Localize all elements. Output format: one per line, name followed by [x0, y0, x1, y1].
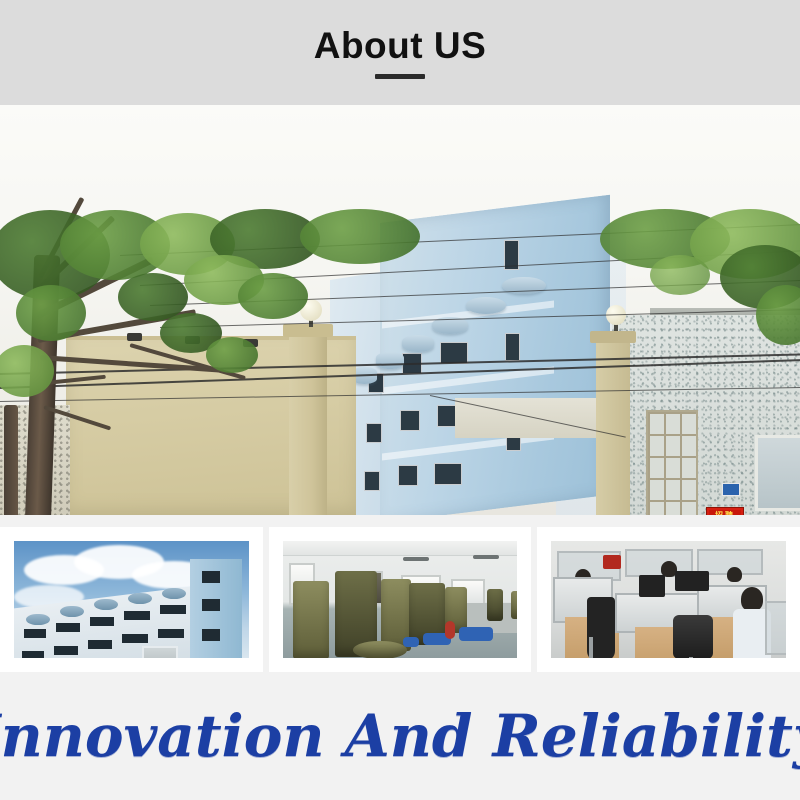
factory-window: [56, 623, 80, 632]
factory-window: [202, 629, 220, 641]
computer-monitor: [603, 555, 621, 569]
page-header: About US: [0, 0, 800, 105]
gate-pillar-cap: [590, 331, 636, 343]
thumbnail-factory-building[interactable]: [0, 527, 263, 672]
tree-trunk: [4, 405, 18, 515]
thumbnail-image: [551, 541, 786, 658]
tree-foliage: [16, 285, 86, 341]
factory-window: [54, 646, 78, 655]
computer-monitor: [639, 575, 665, 597]
factory-window: [160, 605, 186, 614]
hero-image: 招聘: [0, 105, 800, 515]
office-worker: [741, 587, 763, 611]
roof-vent: [60, 606, 84, 617]
office-chair: [673, 615, 713, 658]
building-balcony: [376, 352, 404, 369]
factory-window: [88, 640, 112, 649]
ceiling-fan-icon: [403, 557, 429, 561]
stamping-machine: [511, 591, 518, 619]
roof-vent: [128, 593, 152, 604]
building-balcony: [402, 335, 434, 352]
guard-house-gate: [646, 410, 698, 515]
factory-entrance: [142, 646, 178, 658]
building-window: [505, 333, 520, 361]
title-underline: [375, 74, 425, 79]
thumbnail-image: [283, 541, 518, 658]
workshop-ceiling: [283, 541, 518, 556]
thumbnail-production-workshop[interactable]: [269, 527, 532, 672]
factory-window: [90, 617, 114, 626]
building-balcony: [466, 297, 506, 314]
building-window: [364, 471, 380, 491]
building-window: [434, 463, 462, 485]
factory-window: [22, 651, 44, 658]
recruitment-sign: 招聘: [706, 507, 744, 515]
gate-pillar: [289, 330, 327, 515]
stamping-machine: [487, 589, 503, 621]
machine-base: [353, 641, 407, 658]
roof-vent: [26, 614, 50, 625]
storage-bin: [459, 627, 493, 641]
gate-pillar-cap: [283, 324, 333, 337]
tagline-text: Innovation And Reliability: [0, 702, 800, 770]
thumbnail-gallery: [0, 527, 800, 672]
tagline-section: Innovation And Reliability: [0, 672, 800, 800]
ceiling-fan-icon: [473, 555, 499, 559]
address-plate: [722, 483, 740, 496]
guard-house-window: [755, 435, 800, 511]
tree-foliage: [300, 209, 420, 264]
factory-window: [124, 611, 150, 620]
thumbnail-image: [14, 541, 249, 658]
storage-bin: [403, 637, 419, 647]
stamping-machine: [293, 581, 329, 658]
computer-monitor: [675, 571, 709, 591]
roof-vent: [162, 588, 186, 599]
about-us-page: About US: [0, 0, 800, 800]
page-title: About US: [314, 27, 487, 64]
tree-foliage: [650, 255, 710, 295]
gas-cylinder: [445, 621, 455, 639]
factory-window: [122, 634, 148, 643]
factory-window: [202, 599, 220, 611]
factory-window: [202, 571, 220, 583]
tree-foliage: [238, 273, 308, 319]
chair-frame: [589, 637, 593, 658]
recruitment-sign-title: 招聘: [709, 510, 741, 515]
thumbnail-office-area[interactable]: [537, 527, 800, 672]
tree-foliage: [206, 337, 258, 373]
wall-light-icon: [127, 333, 142, 341]
factory-window: [24, 629, 46, 638]
building-window: [398, 465, 418, 486]
chair-frame: [689, 657, 693, 658]
building-window: [366, 423, 382, 443]
cubicle-glass-panel: [765, 601, 786, 655]
building-window: [400, 410, 420, 431]
office-worker: [727, 567, 742, 582]
gate-pillar: [596, 337, 630, 515]
factory-window: [158, 629, 184, 638]
roof-vent: [94, 599, 118, 610]
